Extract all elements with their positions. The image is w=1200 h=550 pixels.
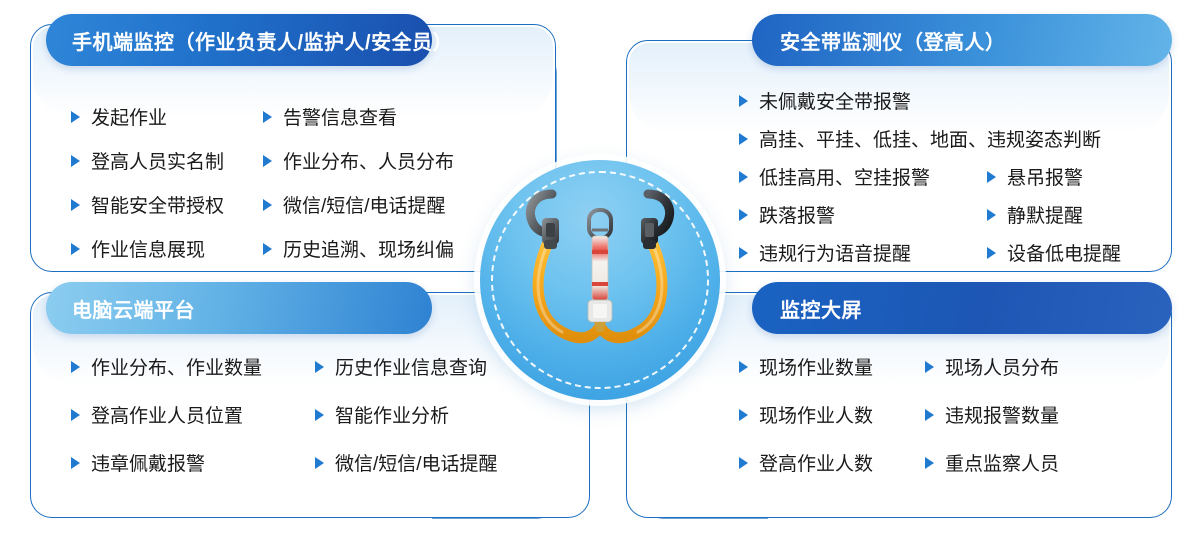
list-item-label: 现场作业数量 <box>759 353 873 380</box>
panel-title: 电脑云端平台 <box>46 294 195 323</box>
panel-header-monitor-wall[interactable]: 监控大屏 <box>752 282 1172 334</box>
list-item[interactable]: 作业分布、作业数量 <box>71 353 315 380</box>
feature-column-2: 历史作业信息查询 智能作业分析 微信/短信/电话提醒 <box>315 353 498 476</box>
list-item-label: 发起作业 <box>91 103 167 130</box>
list-item-label: 跌落报警 <box>759 201 835 228</box>
list-item[interactable]: 设备低电提醒 <box>987 239 1121 266</box>
list-item-label: 智能作业分析 <box>335 401 449 428</box>
arrow-bullet-icon <box>739 133 748 145</box>
panel-header-mobile-monitoring[interactable]: 手机端监控（作业负责人/监护人/安全员） <box>46 14 432 66</box>
list-item[interactable]: 登高作业人员位置 <box>71 401 315 428</box>
arrow-bullet-icon <box>987 171 996 183</box>
list-item-label: 作业分布、人员分布 <box>283 147 454 174</box>
list-item[interactable]: 跌落报警 <box>739 201 987 228</box>
list-item-label: 登高作业人数 <box>759 449 873 476</box>
arrow-bullet-icon <box>71 409 80 421</box>
safety-harness-icon <box>480 160 720 400</box>
arrow-bullet-icon <box>739 457 748 469</box>
arrow-bullet-icon <box>739 361 748 373</box>
list-item[interactable]: 低挂高用、空挂报警 <box>739 163 987 190</box>
arrow-bullet-icon <box>315 457 324 469</box>
panel-title: 安全带监测仪（登高人） <box>752 26 1006 55</box>
list-item-label: 重点监察人员 <box>945 449 1059 476</box>
list-item-label: 登高人员实名制 <box>91 147 224 174</box>
list-item-label: 作业信息展现 <box>91 235 205 262</box>
arrow-bullet-icon <box>71 457 80 469</box>
list-item-label: 微信/短信/电话提醒 <box>283 191 446 218</box>
arrow-bullet-icon <box>739 95 748 107</box>
list-item[interactable]: 未佩戴安全带报警 <box>739 87 1171 114</box>
list-item-label: 告警信息查看 <box>283 103 397 130</box>
list-item-label: 现场作业人数 <box>759 401 873 428</box>
arrow-bullet-icon <box>925 361 934 373</box>
list-item[interactable]: 登高人员实名制 <box>71 147 263 174</box>
feature-column-1: 作业分布、作业数量 登高作业人员位置 违章佩戴报警 <box>71 353 315 476</box>
list-item[interactable]: 历史作业信息查询 <box>315 353 498 380</box>
list-item[interactable]: 高挂、平挂、低挂、地面、违规姿态判断 <box>739 125 1171 152</box>
list-item[interactable]: 作业信息展现 <box>71 235 263 262</box>
list-item-label: 登高作业人员位置 <box>91 401 243 428</box>
feature-column-2: 现场人员分布 违规报警数量 重点监察人员 <box>925 353 1059 476</box>
arrow-bullet-icon <box>263 243 272 255</box>
list-item-label: 违章佩戴报警 <box>91 449 205 476</box>
arrow-bullet-icon <box>315 409 324 421</box>
feature-list-mobile: 发起作业 登高人员实名制 智能安全带授权 作业信息展现 告警信息查看 作业分布、… <box>31 87 555 262</box>
list-item[interactable]: 违规报警数量 <box>925 401 1059 428</box>
arrow-bullet-icon <box>739 209 748 221</box>
list-item[interactable]: 告警信息查看 <box>263 103 454 130</box>
panel-title: 手机端监控（作业负责人/监护人/安全员） <box>46 26 453 55</box>
list-item-label: 违规报警数量 <box>945 401 1059 428</box>
list-item[interactable]: 违章佩戴报警 <box>71 449 315 476</box>
list-item-label: 悬吊报警 <box>1007 163 1083 190</box>
panel-header-belt-monitor[interactable]: 安全带监测仪（登高人） <box>752 14 1172 66</box>
list-item[interactable]: 微信/短信/电话提醒 <box>315 449 498 476</box>
list-item-label: 现场人员分布 <box>945 353 1059 380</box>
list-item-label: 违规行为语音提醒 <box>759 239 911 266</box>
arrow-bullet-icon <box>739 171 748 183</box>
arrow-bullet-icon <box>263 199 272 211</box>
list-item[interactable]: 现场人员分布 <box>925 353 1059 380</box>
list-item[interactable]: 违规行为语音提醒 <box>739 239 987 266</box>
arrow-bullet-icon <box>987 209 996 221</box>
arrow-bullet-icon <box>739 247 748 259</box>
list-item-label: 智能安全带授权 <box>91 191 224 218</box>
list-item[interactable]: 静默提醒 <box>987 201 1121 228</box>
panel-title: 监控大屏 <box>752 294 862 323</box>
list-item-label: 微信/短信/电话提醒 <box>335 449 498 476</box>
list-item[interactable]: 登高作业人数 <box>739 449 925 476</box>
arrow-bullet-icon <box>71 155 80 167</box>
arrow-bullet-icon <box>71 199 80 211</box>
list-item[interactable]: 智能作业分析 <box>315 401 498 428</box>
arrow-bullet-icon <box>263 155 272 167</box>
list-item[interactable]: 现场作业人数 <box>739 401 925 428</box>
arrow-bullet-icon <box>925 409 934 421</box>
list-item-label: 高挂、平挂、低挂、地面、违规姿态判断 <box>759 125 1101 152</box>
list-item-label: 设备低电提醒 <box>1007 239 1121 266</box>
list-item[interactable]: 智能安全带授权 <box>71 191 263 218</box>
list-item[interactable]: 现场作业数量 <box>739 353 925 380</box>
list-item-label: 历史追溯、现场纠偏 <box>283 235 454 262</box>
panel-header-cloud-platform[interactable]: 电脑云端平台 <box>46 282 432 334</box>
feature-column-1: 发起作业 登高人员实名制 智能安全带授权 作业信息展现 <box>71 103 263 262</box>
feature-column-2: 悬吊报警 静默提醒 设备低电提醒 <box>987 163 1121 266</box>
list-item-label: 低挂高用、空挂报警 <box>759 163 930 190</box>
arrow-bullet-icon <box>71 243 80 255</box>
list-item[interactable]: 重点监察人员 <box>925 449 1059 476</box>
arrow-bullet-icon <box>263 111 272 123</box>
list-item[interactable]: 作业分布、人员分布 <box>263 147 454 174</box>
list-item-label: 作业分布、作业数量 <box>91 353 262 380</box>
list-item-label: 静默提醒 <box>1007 201 1083 228</box>
list-item[interactable]: 发起作业 <box>71 103 263 130</box>
list-item[interactable]: 悬吊报警 <box>987 163 1121 190</box>
feature-column-2: 告警信息查看 作业分布、人员分布 微信/短信/电话提醒 历史追溯、现场纠偏 <box>263 103 454 262</box>
arrow-bullet-icon <box>315 361 324 373</box>
list-item-label: 未佩戴安全带报警 <box>759 87 911 114</box>
list-item[interactable]: 历史追溯、现场纠偏 <box>263 235 454 262</box>
arrow-bullet-icon <box>71 111 80 123</box>
arrow-bullet-icon <box>987 247 996 259</box>
feature-column-1: 现场作业数量 现场作业人数 登高作业人数 <box>739 353 925 476</box>
feature-column-1: 低挂高用、空挂报警 跌落报警 违规行为语音提醒 <box>739 163 987 266</box>
list-item[interactable]: 微信/短信/电话提醒 <box>263 191 454 218</box>
arrow-bullet-icon <box>925 457 934 469</box>
list-item-label: 历史作业信息查询 <box>335 353 487 380</box>
arrow-bullet-icon <box>71 361 80 373</box>
center-hub-circle <box>480 160 720 400</box>
arrow-bullet-icon <box>739 409 748 421</box>
diagram-canvas: 发起作业 登高人员实名制 智能安全带授权 作业信息展现 告警信息查看 作业分布、… <box>0 0 1200 550</box>
